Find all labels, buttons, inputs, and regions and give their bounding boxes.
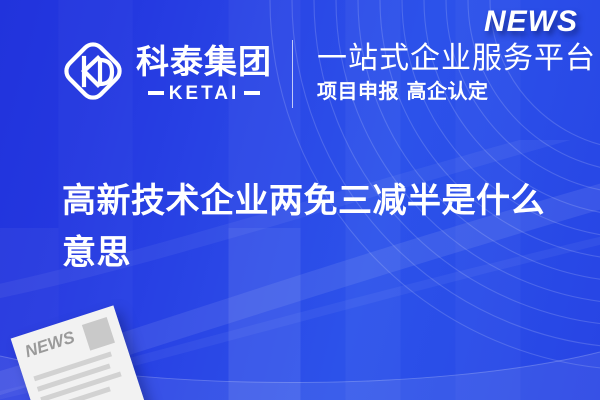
dash-left-icon [148, 91, 164, 95]
brand-text-block: 科泰集团 KETAI [136, 45, 272, 103]
brand-name-en: KETAI [169, 84, 240, 103]
newspaper-masthead: NEWS [23, 326, 83, 360]
dash-right-icon [244, 91, 260, 95]
image-placeholder-icon [82, 317, 115, 351]
brand-name-cn: 科泰集团 [136, 45, 272, 78]
brand-lockup: 科泰集团 KETAI [60, 38, 272, 109]
slogan-sub: 项目申报 高企认定 [317, 79, 596, 104]
brand-name-en-row: KETAI [136, 84, 272, 103]
ketai-monogram-icon [60, 38, 126, 109]
header-divider [292, 40, 293, 108]
newspaper-graphic: NEWS [11, 305, 147, 400]
news-wordmark: NEWS [484, 5, 578, 39]
slogan-block: 一站式企业服务平台 项目申报 高企认定 [317, 43, 596, 104]
banner-header: 科泰集团 KETAI 一站式企业服务平台 项目申报 高企认定 [60, 38, 596, 109]
news-banner: NEWS 科泰集团 KETA [0, 0, 600, 400]
article-title: 高新技术企业两免三减半是什么意思 [62, 175, 562, 280]
slogan-main: 一站式企业服务平台 [317, 43, 596, 75]
